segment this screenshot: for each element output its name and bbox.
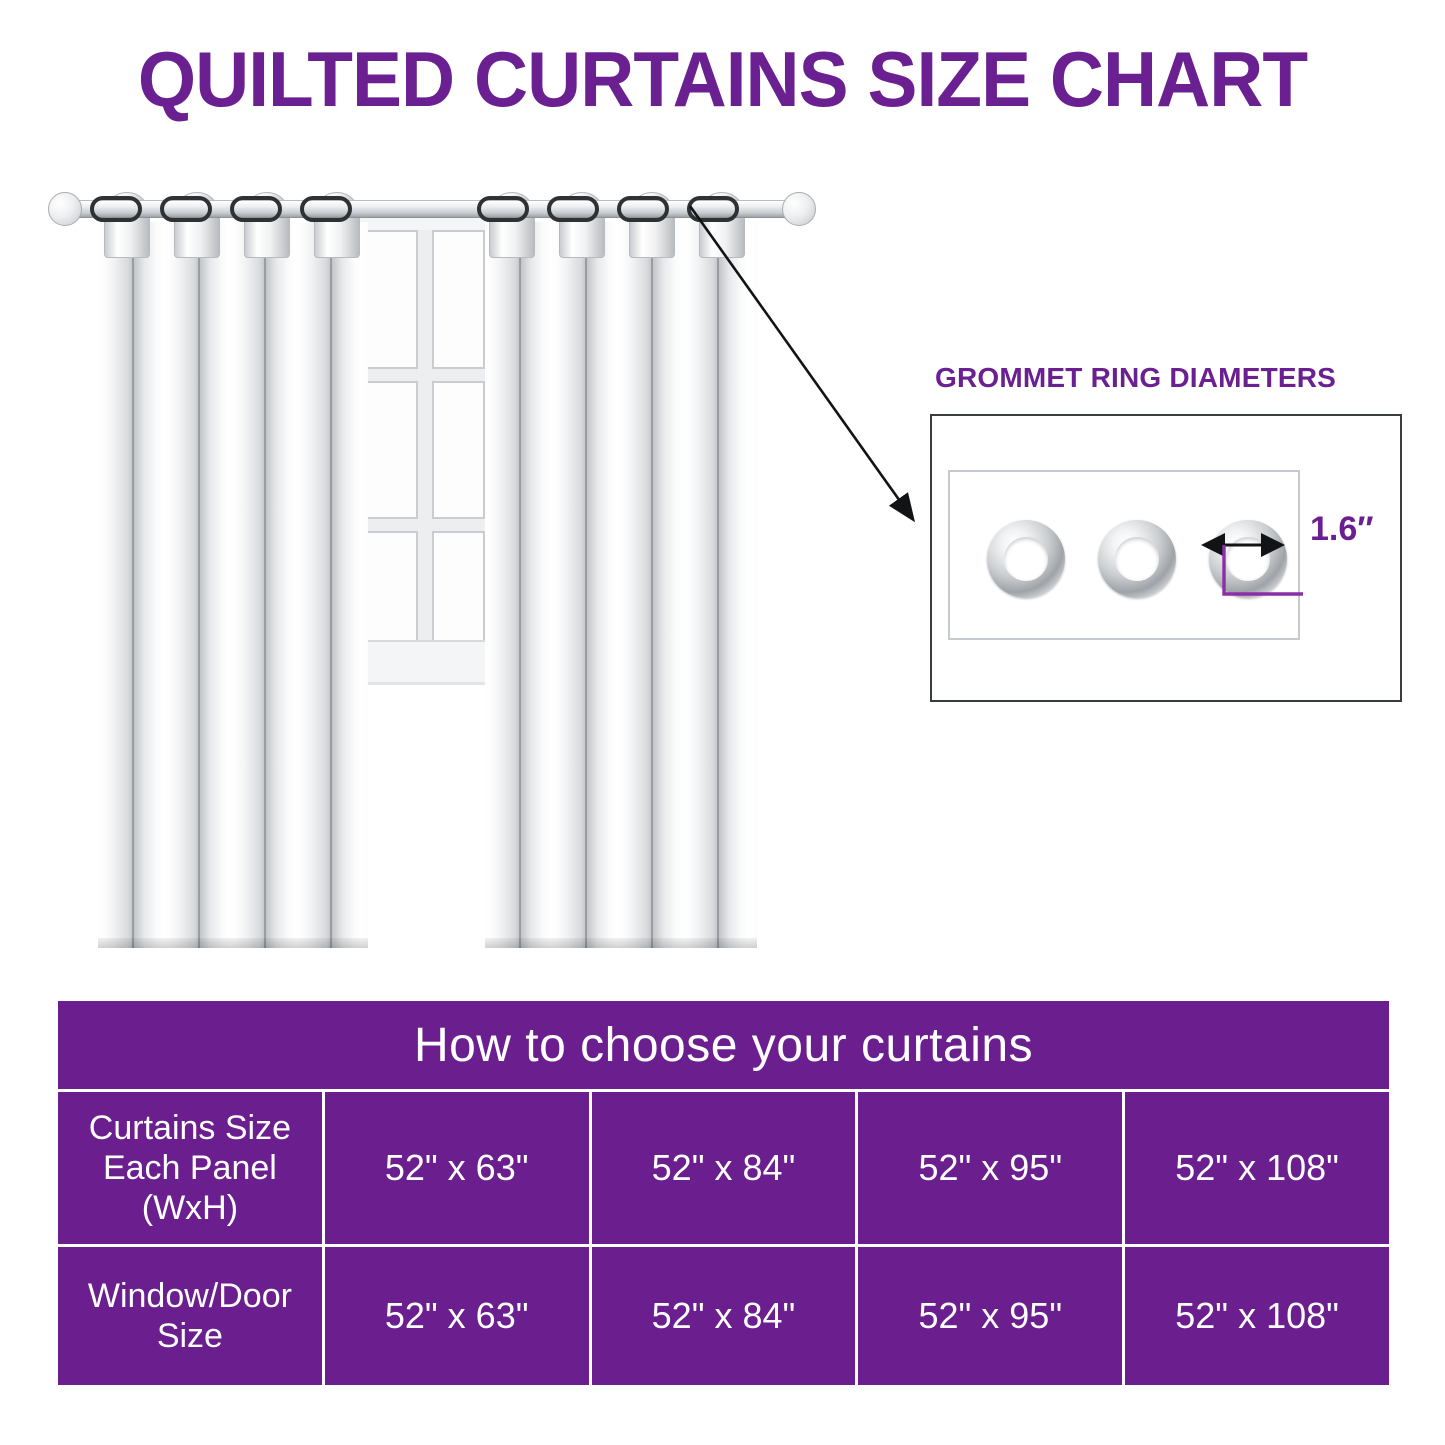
size-chart-page: QUILTED CURTAINS SIZE CHART [0,0,1445,1445]
grommet-ring [687,196,739,222]
grommet-ring [477,196,529,222]
grommet-diameter-label: 1.6″ [1310,510,1374,549]
window-bottom-rail [353,640,497,682]
window-pane [365,381,418,520]
page-title: QUILTED CURTAINS SIZE CHART [29,34,1416,125]
table-title-row: How to choose your curtains [58,1001,1389,1089]
window-mullion [432,519,485,531]
row-label-line: (WxH) [58,1188,322,1228]
row-label-line: Curtains Size [58,1108,322,1148]
window-mullion [418,369,432,381]
row-label-line: Each Panel [58,1148,322,1188]
grommet-detail-section: GROMMET RING DIAMETERS 1.6″ [925,362,1405,707]
curtain-fabric [98,222,368,948]
grommet-fabric-panel [930,414,1402,702]
curtain-illustration [40,170,820,970]
grommet-ring [160,196,212,222]
table-cell-size: 52" x 108" [1125,1092,1389,1244]
row-label-curtains-size: Curtains Size Each Panel (WxH) [58,1092,322,1244]
table-cell-size: 52" x 108" [1125,1247,1389,1385]
table-cell-size: 52" x 63" [325,1247,589,1385]
table-row: Curtains Size Each Panel (WxH) 52" x 63"… [58,1092,1389,1244]
row-label-line: Window/Door [58,1276,322,1316]
grommet-ring [90,196,142,222]
rod-finial-right [782,192,816,226]
grommet-ring [230,196,282,222]
curtain-fabric [485,222,757,948]
rod-finial-left [48,192,82,226]
window-pane [365,230,418,369]
table-cell-size: 52" x 84" [592,1092,856,1244]
table-cell-size: 52" x 95" [858,1247,1122,1385]
table-row: Window/Door Size 52" x 63" 52" x 84" 52"… [58,1247,1389,1385]
grommet-ring [547,196,599,222]
grommet-ring-icon [987,520,1065,598]
table-cell-size: 52" x 84" [592,1247,856,1385]
window-mullion [418,519,432,531]
window-mullion [418,381,432,520]
window-mullion [365,519,418,531]
table-cell-size: 52" x 63" [325,1092,589,1244]
grommet-section-heading: GROMMET RING DIAMETERS [935,362,1405,394]
grommet-ring [617,196,669,222]
window-panes [365,230,485,670]
grommet-ring-icon [1098,520,1176,598]
window-frame [350,215,500,685]
grommet-ring-icon [1209,520,1287,598]
row-label-window-door-size: Window/Door Size [58,1247,322,1385]
window-mullion [432,369,485,381]
size-table: How to choose your curtains Curtains Siz… [55,998,1392,1388]
row-label-line: Size [58,1316,322,1356]
table-cell-size: 52" x 95" [858,1092,1122,1244]
window-pane [432,230,485,369]
curtain-panel-left [98,192,368,948]
table-title: How to choose your curtains [58,1001,1389,1089]
window-mullion [365,369,418,381]
window-pane [432,381,485,520]
curtain-panel-right [485,192,757,948]
grommet-ring [300,196,352,222]
window-mullion [418,230,432,369]
